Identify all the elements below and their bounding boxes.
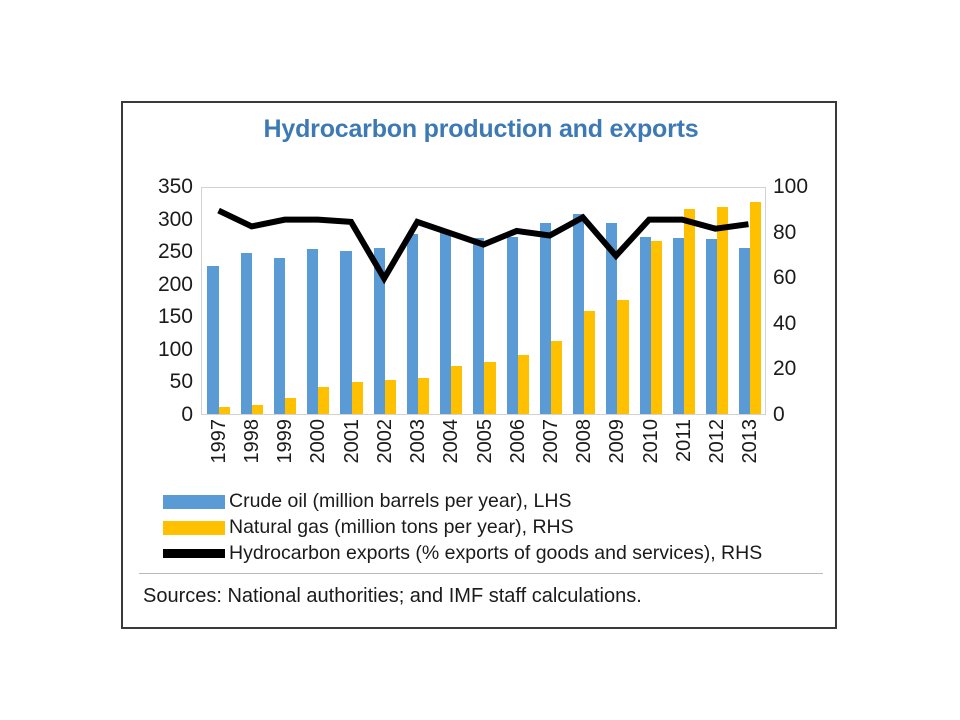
legend-item: Hydrocarbon exports (% exports of goods … (163, 541, 823, 566)
category-axis-label: 2007 (540, 419, 563, 464)
chart-legend: Crude oil (million barrels per year), LH… (163, 489, 823, 567)
category-axis-label: 2009 (606, 419, 629, 464)
category-axis-label: 1997 (208, 419, 231, 464)
hydrocarbon-exports-line (202, 188, 765, 414)
left-axis-tick: 150 (158, 306, 193, 327)
legend-item-label: Hydrocarbon exports (% exports of goods … (229, 542, 762, 565)
right-axis-tick: 0 (773, 404, 785, 425)
plot-block: 350300250200150100500 100806040200 19971… (123, 187, 839, 427)
category-axis-label: 2003 (407, 419, 430, 464)
category-axis-label: 2006 (507, 419, 530, 464)
legend-item-label: Natural gas (million tons per year), RHS (229, 516, 574, 539)
left-axis-tick: 200 (158, 274, 193, 295)
line-layer (202, 188, 765, 414)
chart-screenshot: Hydrocarbon production and exports 35030… (0, 0, 960, 720)
category-axis-label: 2013 (739, 419, 762, 464)
left-axis-tick: 0 (181, 404, 193, 425)
legend-item: Crude oil (million barrels per year), LH… (163, 489, 823, 514)
left-axis-tick: 50 (170, 371, 193, 392)
category-axis-label: 2010 (640, 419, 663, 464)
source-divider (139, 573, 823, 574)
plot-area (201, 187, 766, 415)
left-value-axis: 350300250200150100500 (135, 187, 193, 415)
right-axis-tick: 20 (773, 358, 796, 379)
figure-frame: Hydrocarbon production and exports 35030… (121, 101, 837, 629)
legend-item-label: Crude oil (million barrels per year), LH… (229, 490, 571, 513)
category-axis-label: 2011 (673, 419, 696, 462)
right-axis-tick: 60 (773, 267, 796, 288)
category-axis-label: 2000 (307, 419, 330, 464)
source-note: Sources: National authorities; and IMF s… (143, 585, 642, 608)
category-axis-label: 2008 (573, 419, 596, 464)
category-axis-label: 2001 (341, 419, 364, 464)
category-axis: 1997199819992000200120022003200420052006… (201, 419, 766, 493)
legend-swatch-natural-gas (163, 521, 225, 535)
category-axis-label: 1998 (241, 419, 264, 464)
category-axis-label: 2012 (706, 419, 729, 464)
category-axis-label: 2002 (374, 419, 397, 464)
left-axis-tick: 250 (158, 241, 193, 262)
category-axis-label: 2004 (440, 419, 463, 464)
legend-swatch-crude-oil (163, 495, 225, 509)
legend-item: Natural gas (million tons per year), RHS (163, 515, 823, 540)
right-value-axis: 100806040200 (773, 187, 827, 415)
category-axis-label: 1999 (274, 419, 297, 464)
page-title: Hydrocarbon production and exports (123, 115, 839, 144)
right-axis-tick: 40 (773, 313, 796, 334)
right-axis-tick: 100 (773, 176, 808, 197)
left-axis-tick: 350 (158, 176, 193, 197)
left-axis-tick: 300 (158, 209, 193, 230)
left-axis-tick: 100 (158, 339, 193, 360)
category-axis-label: 2005 (474, 419, 497, 464)
right-axis-tick: 80 (773, 222, 796, 243)
legend-swatch-exports-line (163, 549, 225, 558)
